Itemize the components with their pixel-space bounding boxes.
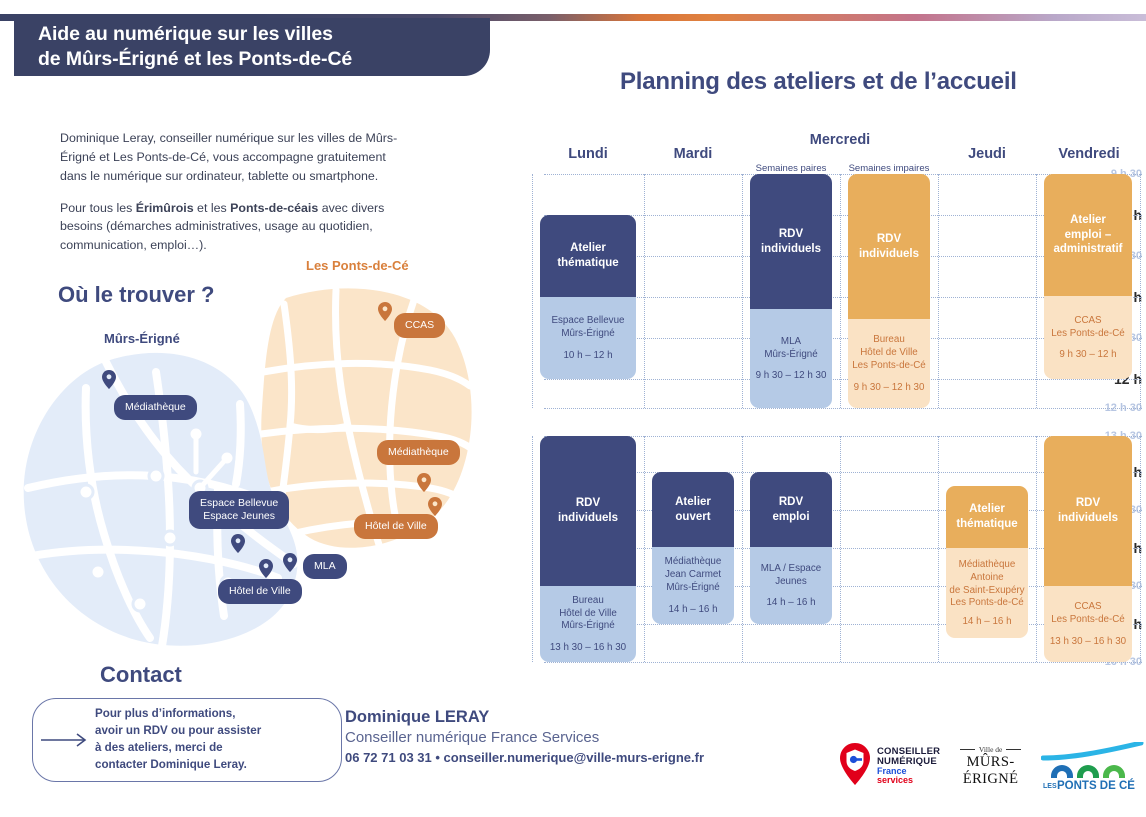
infographic-page: Aide au numérique sur les villes de Mûrs… <box>0 0 1146 817</box>
event-title-jeudi-aprem: Atelier thématique <box>946 486 1028 548</box>
gridline-h-12h <box>544 379 1142 380</box>
map-pin-icon-espace-bellevue <box>231 534 245 553</box>
event-title-mercredi-paires-matin: RDV individuels <box>750 174 832 309</box>
event-hours-jeudi-aprem: 14 h – 16 h <box>962 616 1011 627</box>
logo-pdc-les: LES <box>1043 783 1057 790</box>
logo-conseiller-numerique: CONSEILLER NUMÉRIQUE France services <box>840 743 940 790</box>
event-details-vendredi-aprem: CCAS Les Ponts-de-Cé 13 h 30 – 16 h 30 <box>1044 586 1132 662</box>
city-label-les-ponts-de-ce: Les Ponts-de-Cé <box>306 258 409 273</box>
map-label-hotel-de-ville-me: Hôtel de Ville <box>218 579 302 604</box>
event-place-mercredi-impaires-matin: Bureau Hôtel de Ville Les Ponts-de-Cé <box>852 334 926 373</box>
page-title: Aide au numérique sur les villes de Mûrs… <box>38 22 352 73</box>
intro-paragraph-1: Dominique Leray, conseiller numérique su… <box>60 129 410 186</box>
contact-person-name: Dominique LERAY <box>345 708 704 727</box>
gridline-v-6-pm <box>1140 436 1141 662</box>
intro-text: Dominique Leray, conseiller numérique su… <box>60 129 410 255</box>
day-header-lundi: Lundi <box>532 146 644 162</box>
event-hours-lundi-aprem: 13 h 30 – 16 h 30 <box>550 642 626 653</box>
page-title-line2: de Mûrs-Érigné et les Ponts-de-Cé <box>38 48 352 70</box>
contact-title: Contact <box>100 662 182 688</box>
gridline-v-3-pm <box>840 436 841 662</box>
subheader-semaines-paires: Semaines paires <box>742 163 840 174</box>
contact-note-text: Pour plus d’informations, avoir un RDV o… <box>95 706 261 773</box>
logo-pdc-graphic: LES PONTS DE CÉ <box>1041 742 1146 790</box>
intro-p2-bold1: Érimûrois <box>136 201 194 215</box>
gridline-h-1630 <box>544 662 1142 663</box>
event-block-jeudi-aprem[interactable]: Atelier thématique Médiathèque Antoine d… <box>946 486 1028 638</box>
event-hours-vendredi-matin: 9 h 30 – 12 h <box>1059 349 1116 360</box>
conseiller-numerique-pin-icon <box>840 743 870 790</box>
logo-ponts-de-ce: LES PONTS DE CÉ <box>1041 742 1146 790</box>
gridline-v-3-am <box>840 174 841 408</box>
event-title-vendredi-matin: Atelier emploi – administratif <box>1044 174 1132 296</box>
map-pin-icon-mla <box>283 553 297 572</box>
contact-person-role: Conseiller numérique France Services <box>345 729 704 746</box>
conseiller-numerique-wordmark: CONSEILLER NUMÉRIQUE France services <box>877 747 940 786</box>
gridline-v-1-pm <box>644 436 645 662</box>
event-place-mercredi-paires-aprem: MLA / Espace Jeunes <box>761 563 821 589</box>
logo-me-rule-left <box>960 749 975 750</box>
map-label-hotel-de-ville-pdc: Hôtel de Ville <box>354 514 438 539</box>
day-header-mercredi: Mercredi <box>742 132 938 148</box>
event-place-lundi-matin: Espace Bellevue Mûrs-Érigné <box>552 315 625 341</box>
event-details-mardi-aprem: Médiathèque Jean Carmet Mûrs-Érigné 14 h… <box>652 547 734 624</box>
event-hours-lundi-matin: 10 h – 12 h <box>563 350 612 361</box>
event-place-mardi-aprem: Médiathèque Jean Carmet Mûrs-Érigné <box>665 556 722 595</box>
map-pin-icon-hotel-de-ville-pdc <box>428 497 442 516</box>
map-pin-icon-ccas <box>378 302 392 321</box>
logo-me-top-rule: Ville de <box>960 745 1021 754</box>
event-title-vendredi-aprem: RDV individuels <box>1044 436 1132 586</box>
event-hours-mercredi-paires-aprem: 14 h – 16 h <box>766 597 815 608</box>
event-hours-mercredi-paires-matin: 9 h 30 – 12 h 30 <box>756 370 827 381</box>
event-hours-mardi-aprem: 14 h – 16 h <box>668 604 717 615</box>
event-details-lundi-matin: Espace Bellevue Mûrs-Érigné 10 h – 12 h <box>540 297 636 379</box>
event-place-jeudi-aprem: Médiathèque Antoine de Saint-Exupéry Les… <box>949 559 1024 611</box>
gridline-v-5-pm <box>1036 436 1037 662</box>
event-title-lundi-matin: Atelier thématique <box>540 215 636 297</box>
map-pin-icon-hotel-de-ville-me <box>259 559 273 578</box>
gridline-v-6-am <box>1140 174 1141 408</box>
event-hours-vendredi-aprem: 13 h 30 – 16 h 30 <box>1050 636 1126 647</box>
map-pin-icon-mediatheque-pdc <box>417 473 431 492</box>
map-label-mla: MLA <box>303 554 347 579</box>
day-header-mardi: Mardi <box>644 146 742 162</box>
gridline-h-1230 <box>544 408 1142 409</box>
day-header-vendredi: Vendredi <box>1036 146 1142 162</box>
map-pin-icon-mediatheque-me <box>102 370 116 389</box>
event-block-mercredi-paires-matin[interactable]: RDV individuels MLA Mûrs-Érigné 9 h 30 –… <box>750 174 832 408</box>
event-block-mercredi-impaires-matin[interactable]: RDV individuels Bureau Hôtel de Ville Le… <box>848 174 930 408</box>
logo-pdc-name: PONTS DE CÉ <box>1057 779 1135 790</box>
event-title-mercredi-paires-aprem: RDV emploi <box>750 472 832 547</box>
map-label-mediatheque-me: Médiathèque <box>114 395 197 420</box>
logo-me-ville-label: Ville de <box>979 745 1003 754</box>
gridline-v-4-pm <box>938 436 939 662</box>
intro-p2-mid: et les <box>194 201 231 215</box>
event-block-vendredi-aprem[interactable]: RDV individuels CCAS Les Ponts-de-Cé 13 … <box>1044 436 1132 662</box>
event-title-lundi-aprem: RDV individuels <box>540 436 636 586</box>
logo-murs-erigne: Ville de MÛRS-ÉRIGNÉ <box>960 745 1021 788</box>
gridline-v-1-am <box>644 174 645 408</box>
event-block-vendredi-matin[interactable]: Atelier emploi – administratif CCAS Les … <box>1044 174 1132 379</box>
event-title-mardi-aprem: Atelier ouvert <box>652 472 734 547</box>
event-details-jeudi-aprem: Médiathèque Antoine de Saint-Exupéry Les… <box>946 548 1028 638</box>
map-label-espace-bellevue: Espace Bellevue Espace Jeunes <box>189 491 289 529</box>
gridline-v-0-am <box>532 174 533 408</box>
arrow-right-icon <box>33 733 95 747</box>
event-block-mardi-aprem[interactable]: Atelier ouvert Médiathèque Jean Carmet M… <box>652 472 734 624</box>
contact-note-box: Pour plus d’informations, avoir un RDV o… <box>32 698 342 782</box>
gridline-v-2-am <box>742 174 743 408</box>
header-banner: Aide au numérique sur les villes de Mûrs… <box>14 18 490 76</box>
contact-person-phone-email[interactable]: 06 72 71 03 31 • conseiller.numerique@vi… <box>345 750 704 765</box>
page-title-line1: Aide au numérique sur les villes <box>38 23 333 45</box>
event-place-mercredi-paires-matin: MLA Mûrs-Érigné <box>764 336 817 362</box>
event-details-lundi-aprem: Bureau Hôtel de Ville Mûrs-Érigné 13 h 3… <box>540 586 636 662</box>
gridline-v-5-am <box>1036 174 1037 408</box>
event-title-mercredi-impaires-matin: RDV individuels <box>848 174 930 319</box>
intro-p2-bold2: Ponts-de-céais <box>230 201 318 215</box>
event-place-lundi-aprem: Bureau Hôtel de Ville Mûrs-Érigné <box>559 595 617 634</box>
schedule-chart: Lundi Mardi Mercredi Semaines paires Sem… <box>488 140 1142 668</box>
event-details-mercredi-impaires-matin: Bureau Hôtel de Ville Les Ponts-de-Cé 9 … <box>848 319 930 408</box>
event-place-vendredi-aprem: CCAS Les Ponts-de-Cé <box>1051 601 1125 627</box>
intro-paragraph-2: Pour tous les Érimûrois et les Ponts-de-… <box>60 199 410 256</box>
logo-cn-line4: services <box>877 776 940 785</box>
logo-me-name: MÛRS-ÉRIGNÉ <box>960 754 1021 788</box>
event-details-vendredi-matin: CCAS Les Ponts-de-Cé 9 h 30 – 12 h <box>1044 296 1132 379</box>
day-header-jeudi: Jeudi <box>938 146 1036 162</box>
logo-me-rule-right <box>1006 749 1021 750</box>
event-hours-mercredi-impaires-matin: 9 h 30 – 12 h 30 <box>854 382 925 393</box>
map-label-mediatheque-pdc: Médiathèque <box>377 440 460 465</box>
event-details-mercredi-paires-aprem: MLA / Espace Jeunes 14 h – 16 h <box>750 547 832 624</box>
gridline-v-2-pm <box>742 436 743 662</box>
planning-title: Planning des ateliers et de l’accueil <box>620 68 1017 96</box>
gridline-v-0-pm <box>532 436 533 662</box>
intro-p2-before: Pour tous les <box>60 201 136 215</box>
maps-container: Médiathèque Espace Bellevue Espace Jeune… <box>18 276 478 656</box>
event-block-lundi-matin[interactable]: Atelier thématique Espace Bellevue Mûrs-… <box>540 215 636 379</box>
event-place-vendredi-matin: CCAS Les Ponts-de-Cé <box>1051 315 1125 341</box>
map-label-ccas: CCAS <box>394 313 445 338</box>
contact-person: Dominique LERAY Conseiller numérique Fra… <box>345 708 704 765</box>
subheader-semaines-impaires: Semaines impaires <box>840 163 938 174</box>
gridline-v-4-am <box>938 174 939 408</box>
event-details-mercredi-paires-matin: MLA Mûrs-Érigné 9 h 30 – 12 h 30 <box>750 309 832 408</box>
logos-row: CONSEILLER NUMÉRIQUE France services Vil… <box>840 742 1146 790</box>
event-block-lundi-aprem[interactable]: RDV individuels Bureau Hôtel de Ville Mû… <box>540 436 636 662</box>
event-block-mercredi-paires-aprem[interactable]: RDV emploi MLA / Espace Jeunes 14 h – 16… <box>750 472 832 624</box>
